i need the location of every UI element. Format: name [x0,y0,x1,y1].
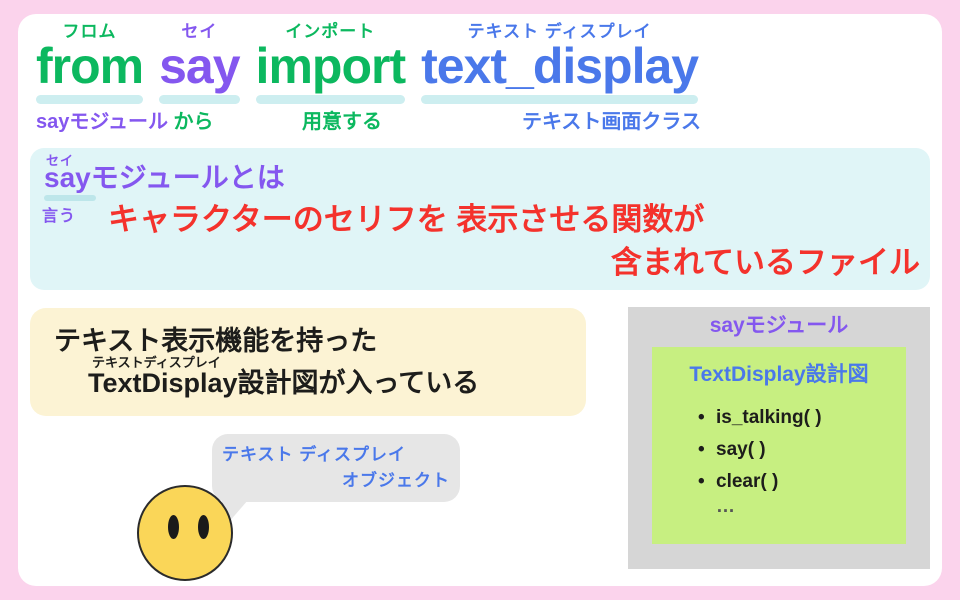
underline-bar-from [36,95,143,104]
furigana-say-heading: セイ [46,145,74,177]
subcaption-text-display: テキスト画面クラス [522,110,701,134]
say-module-container-title: sayモジュール [628,313,930,339]
underline-bar-import [256,95,406,104]
speech-bubble-line2: オブジェクト [222,468,450,494]
title-token-import: インポート import [256,22,406,104]
subcaption-import: 用意する [302,110,382,134]
say-module-description: キャラクターのセリフを 表示させる関数が 含まれているファイル [108,198,920,284]
subcaption-from-module: sayモジュール [36,111,168,133]
title-token-from: フロム from [36,22,143,104]
say-underline-bar [44,195,96,201]
title-word-from: from [36,39,143,93]
title-word-import: import [256,39,406,93]
text-display-info-line1: テキスト表示機能を持った [54,325,377,357]
subcaption-from-kara: から [174,111,214,133]
eye-right-icon [198,515,209,539]
say-module-heading: セイ sayモジュールとは [44,162,285,194]
slide-root: フロム from セイ say インポート import テキスト ディスプレイ… [0,0,960,600]
title-line: フロム from セイ say インポート import テキスト ディスプレイ… [36,22,698,104]
say-description-line2: 含まれているファイル [108,241,920,284]
title-token-text-display: テキスト ディスプレイ text_display [421,22,698,104]
method-list-ellipsis: … [716,496,737,518]
speech-bubble-line1: テキスト ディスプレイ [222,442,450,468]
method-list: is_talking( ) say( ) clear( ) [698,402,898,498]
say-yomi-label: 言う [42,207,76,227]
underline-bar-say [159,95,239,104]
underline-bar-text-display [421,95,698,104]
smiley-face-icon [137,485,233,581]
list-item: is_talking( ) [698,402,898,434]
title-token-say: セイ say [159,22,239,104]
speech-bubble-text: テキスト ディスプレイ オブジェクト [222,442,450,494]
textdisplay-class-title: TextDisplay設計図 [652,362,906,388]
title-word-text-display: text_display [421,39,698,93]
text-display-info-line2: TextDisplay設計図が入っている [88,367,479,399]
list-item: say( ) [698,434,898,466]
say-module-heading-text: sayモジュールとは [44,162,285,193]
eye-left-icon [168,515,179,539]
list-item: clear( ) [698,466,898,498]
title-word-say: say [159,39,239,93]
subcaption-from: sayモジュール から [36,110,214,134]
say-description-line1: キャラクターのセリフを 表示させる関数が [108,198,920,241]
